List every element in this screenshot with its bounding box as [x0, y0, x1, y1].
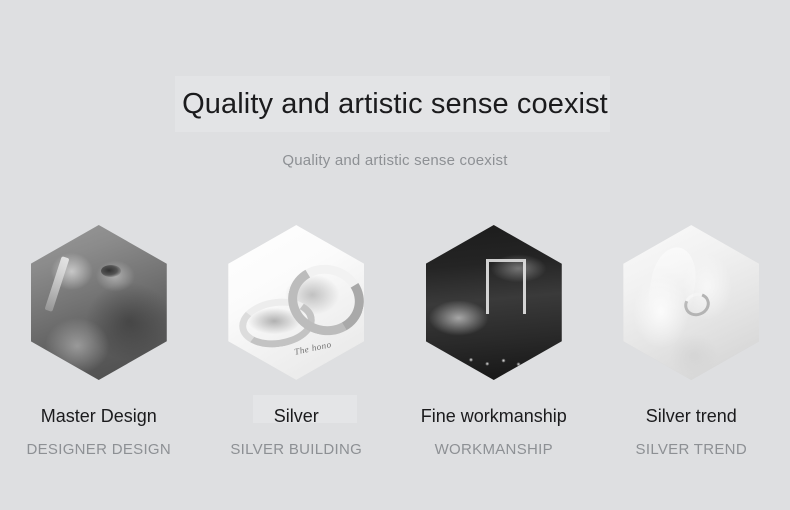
feature-card-title: Master Design — [41, 404, 157, 428]
silver-trend-photo — [623, 225, 759, 380]
feature-card-title: Fine workmanship — [421, 404, 567, 428]
page-title: Quality and artistic sense coexist — [0, 82, 790, 126]
feature-section: Quality and artistic sense coexist Quali… — [0, 0, 790, 510]
silver-rings-photo: The hono — [228, 225, 364, 380]
page-subtitle: Quality and artistic sense coexist — [0, 150, 790, 172]
feature-card-silver-trend[interactable]: Silver trend SILVER TREND — [593, 225, 790, 460]
feature-card-subtitle: SILVER BUILDING — [230, 440, 362, 460]
fine-workmanship-photo-image — [426, 225, 562, 380]
feature-card-master-design[interactable]: Master Design DESIGNER DESIGN — [0, 225, 198, 460]
feature-card-subtitle: DESIGNER DESIGN — [26, 440, 171, 460]
master-design-photo-image — [31, 225, 167, 380]
master-design-photo — [31, 225, 167, 380]
feature-card-title: Silver trend — [646, 404, 737, 428]
feature-card-subtitle: SILVER TREND — [636, 440, 747, 460]
silver-rings-photo-image — [228, 225, 364, 380]
feature-card-silver[interactable]: The hono Silver SILVER BUILDING — [198, 225, 396, 460]
feature-card-list: Master Design DESIGNER DESIGN The hono S… — [0, 225, 790, 460]
feature-card-title: Silver — [274, 404, 319, 428]
fine-workmanship-photo — [426, 225, 562, 380]
feature-card-subtitle: WORKMANSHIP — [435, 440, 553, 460]
silver-trend-photo-image — [623, 225, 759, 380]
feature-card-fine-workmanship[interactable]: Fine workmanship WORKMANSHIP — [395, 225, 593, 460]
